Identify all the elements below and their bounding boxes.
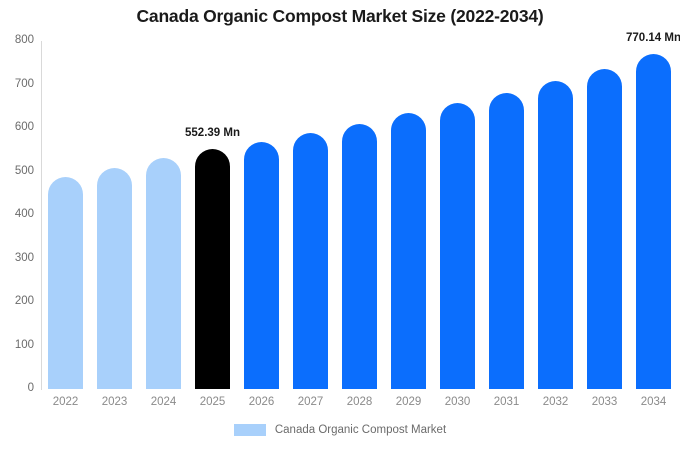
bar-2033[interactable]: [587, 69, 622, 389]
bar-series-group: 2022202320242025552.39 Mn202620272028202…: [0, 0, 680, 450]
x-axis-tick-label-2029: 2029: [391, 396, 426, 408]
x-axis-tick-label-2033: 2033: [587, 396, 622, 408]
bar-2024[interactable]: [146, 158, 181, 389]
x-axis-tick-label-2030: 2030: [440, 396, 475, 408]
bar-2022[interactable]: [48, 177, 83, 389]
x-axis-tick-label-2024: 2024: [146, 396, 181, 408]
legend-swatch-canada-organic-compost-market: [234, 424, 266, 436]
bar-2030[interactable]: [440, 103, 475, 389]
bar-2026[interactable]: [244, 142, 279, 389]
value-label-2025: 552.39 Mn: [185, 127, 240, 139]
x-axis-tick-label-2022: 2022: [48, 396, 83, 408]
bar-2028[interactable]: [342, 124, 377, 389]
value-label-2034: 770.14 Mn: [626, 32, 680, 44]
bar-2029[interactable]: [391, 113, 426, 389]
x-axis-tick-label-2025: 2025: [195, 396, 230, 408]
chart-legend: Canada Organic Compost Market: [0, 424, 680, 436]
x-axis-tick-label-2028: 2028: [342, 396, 377, 408]
bar-2025[interactable]: [195, 149, 230, 389]
bar-2031[interactable]: [489, 93, 524, 389]
x-axis-tick-label-2034: 2034: [636, 396, 671, 408]
x-axis-tick-label-2026: 2026: [244, 396, 279, 408]
bar-2032[interactable]: [538, 81, 573, 389]
bar-2034[interactable]: [636, 54, 671, 389]
x-axis-tick-label-2023: 2023: [97, 396, 132, 408]
x-axis-tick-label-2032: 2032: [538, 396, 573, 408]
chart-container: Canada Organic Compost Market Size (2022…: [0, 0, 680, 450]
x-axis-tick-label-2027: 2027: [293, 396, 328, 408]
bar-2027[interactable]: [293, 133, 328, 389]
legend-label-canada-organic-compost-market: Canada Organic Compost Market: [275, 424, 446, 436]
x-axis-tick-label-2031: 2031: [489, 396, 524, 408]
bar-2023[interactable]: [97, 168, 132, 389]
